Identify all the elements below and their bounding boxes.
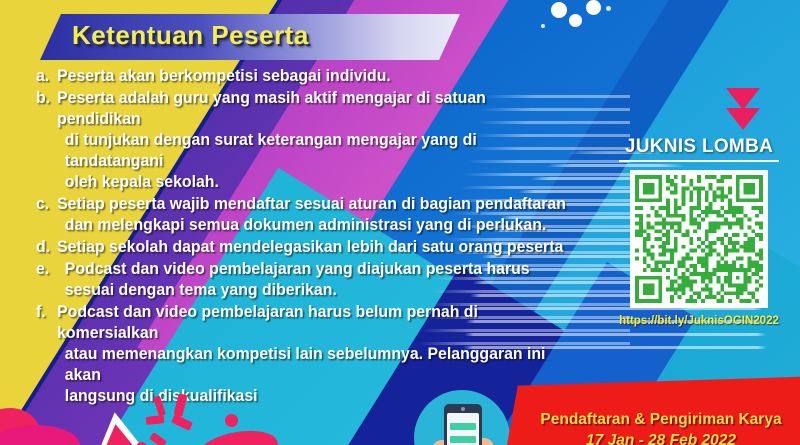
down-triangle-icon [726,108,760,130]
tablet-line [450,436,476,443]
schedule-dates: 17 Jan - 28 Feb 2022 [516,432,800,445]
tablet-camera [461,407,465,411]
rule-text: Setiap sekolah dapat mendelegasikan lebi… [57,237,570,258]
page-title: Ketentuan Peserta [72,20,309,51]
decorative-dot [586,0,601,15]
pink-dot [225,414,238,427]
rule-item: d. Setiap sekolah dapat mendelegasikan l… [36,237,570,258]
rule-text: Podcast dan video pembelajaran yang diaj… [57,259,570,301]
rule-item: a. Peserta akan berkompetisi sebagai ind… [36,66,570,87]
qr-panel: JUKNIS LOMBA https://bit.ly/JuknisOGIN20… [604,136,794,327]
burst-ray [171,414,193,431]
decorative-speck [541,24,545,28]
qr-url-label[interactable]: https://bit.ly/JuknisOGIN2022 [604,315,794,327]
poster-root: Ketentuan Peserta a. Peserta akan berkom… [0,0,800,445]
burst-ray [149,432,167,445]
rule-text: Peserta adalah guru yang masih aktif men… [57,88,570,193]
tablet-line [450,423,476,430]
decorative-dot [551,2,567,18]
megaphone-icon [50,392,260,445]
schedule-title: Pendaftaran & Pengiriman Karya [516,411,800,429]
rule-text: Peserta akan berkompetisi sebagai indivi… [57,66,570,87]
rule-item: e. Podcast dan video pembelajaran yang d… [36,259,570,301]
decorative-speck [606,6,611,11]
rule-marker: d. [36,237,57,258]
rule-text: Setiap peserta wajib mendaftar sesuai at… [57,194,570,236]
decorative-dot [569,14,582,27]
rule-marker: c. [36,194,57,236]
tablet-document-icon [414,390,510,445]
burst-ray [153,395,166,416]
rule-item: c. Setiap peserta wajib mendaftar sesuai… [36,194,570,236]
rule-marker: a. [36,66,57,87]
rule-marker: b. [36,88,57,193]
rule-marker: e. [36,259,57,301]
rule-item: b. Peserta adalah guru yang masih aktif … [36,88,570,193]
qr-code-canvas [635,175,763,303]
rules-list: a. Peserta akan berkompetisi sebagai ind… [36,66,592,408]
burst-ray [173,393,187,417]
down-triangle-icon [726,88,760,110]
qr-code[interactable] [630,170,768,308]
qr-heading: JUKNIS LOMBA [619,136,779,162]
burst-ray [146,415,165,425]
